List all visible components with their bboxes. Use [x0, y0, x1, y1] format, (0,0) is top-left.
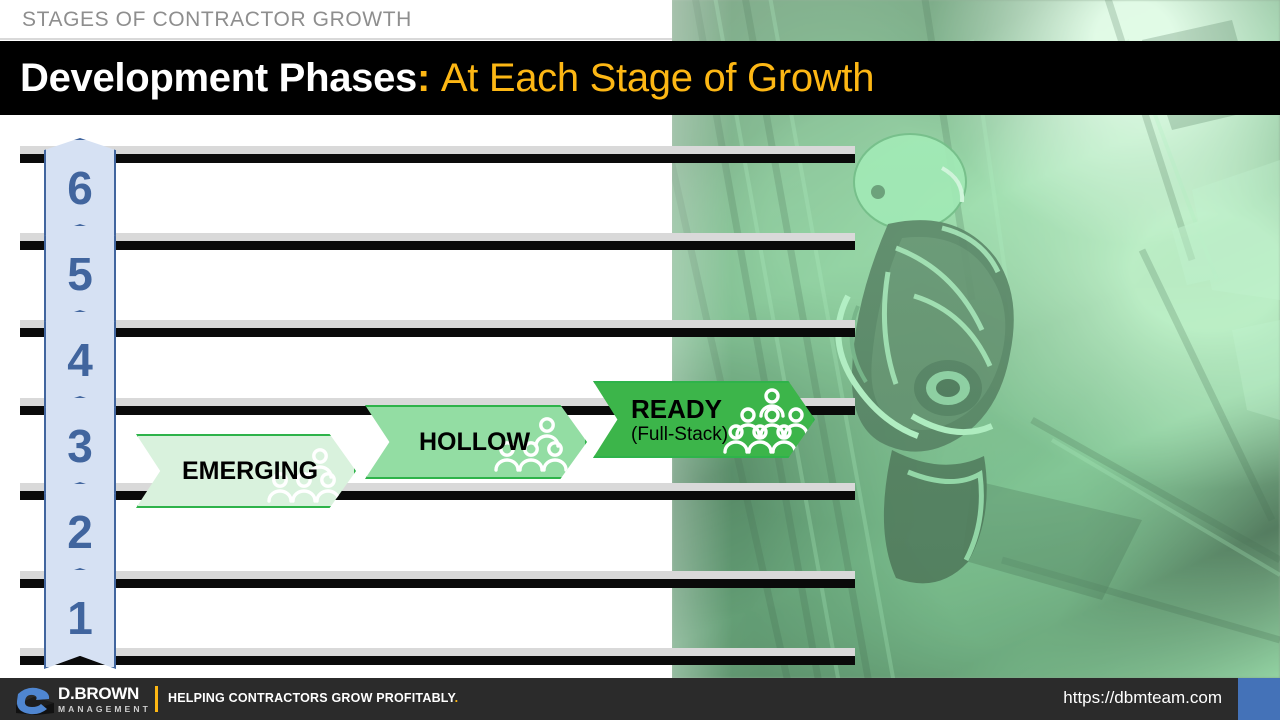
rule-black	[20, 241, 855, 250]
rule-black	[20, 154, 855, 163]
stage-number: 4	[67, 337, 93, 383]
brand-name: D.BROWN	[58, 685, 151, 702]
divider-rule	[20, 571, 855, 589]
phase-label-hollow: HOLLOW	[367, 430, 530, 455]
stage-chevron-5[interactable]: 5	[44, 224, 116, 325]
phase-arrow-emerging[interactable]: EMERGING	[136, 434, 356, 508]
divider-rule	[20, 146, 855, 164]
phase-title: EMERGING	[182, 459, 318, 484]
phase-label-emerging: EMERGING	[138, 459, 318, 484]
stage-number: 3	[67, 423, 93, 469]
page-title: Development Phases: At Each Stage of Gro…	[20, 56, 874, 101]
stage-chevron-2[interactable]: 2	[44, 482, 116, 583]
stage-number: 1	[67, 595, 93, 641]
phase-title: READY	[631, 396, 728, 422]
slide-root: STAGES OF CONTRACTOR GROWTH Development …	[0, 0, 1280, 720]
dbrown-logo-icon	[14, 684, 56, 716]
phase-title: HOLLOW	[419, 430, 530, 455]
title-main: Development Phases	[20, 56, 417, 100]
divider-rule	[20, 320, 855, 338]
divider-rule	[20, 233, 855, 251]
title-bar: Development Phases: At Each Stage of Gro…	[0, 41, 1280, 115]
tagline-text: HELPING CONTRACTORS GROW PROFITABLY	[168, 691, 455, 705]
footer-tagline: HELPING CONTRACTORS GROW PROFITABLY.	[168, 691, 458, 705]
people-icon-group	[719, 388, 809, 456]
footer-bar: D.BROWN MANAGEMENT HELPING CONTRACTORS G…	[0, 678, 1280, 720]
phase-arrow-ready[interactable]: READY (Full-Stack)	[593, 381, 815, 458]
rule-black	[20, 579, 855, 588]
footer-corner-accent	[1238, 678, 1280, 720]
phase-subtitle: (Full-Stack)	[631, 425, 728, 444]
rule-black	[20, 328, 855, 337]
stage-chevron-1[interactable]: 1	[44, 568, 116, 669]
divider-rule	[20, 648, 855, 666]
footer-divider	[155, 686, 158, 712]
stage-chevron-stack: 6 5 4 3 2 1	[44, 138, 116, 654]
stage-chevron-6[interactable]: 6	[44, 138, 116, 239]
stage-chevron-4[interactable]: 4	[44, 310, 116, 411]
stage-chevron-3[interactable]: 3	[44, 396, 116, 497]
eyebrow-text: STAGES OF CONTRACTOR GROWTH	[22, 8, 412, 32]
rule-black	[20, 656, 855, 665]
stage-number: 2	[67, 509, 93, 555]
tagline-dot: .	[455, 691, 459, 705]
title-accent: At Each Stage of Growth	[441, 56, 874, 100]
brand-subtitle: MANAGEMENT	[58, 705, 151, 714]
stage-number: 5	[67, 251, 93, 297]
title-colon: :	[417, 56, 430, 100]
stage-number: 6	[67, 165, 93, 211]
brand-logo[interactable]: D.BROWN MANAGEMENT	[14, 682, 148, 718]
footer-url[interactable]: https://dbmteam.com	[1063, 688, 1222, 708]
brand-logo-text: D.BROWN MANAGEMENT	[58, 685, 151, 714]
eyebrow-divider	[0, 38, 672, 40]
phase-arrow-hollow[interactable]: HOLLOW	[365, 405, 587, 479]
